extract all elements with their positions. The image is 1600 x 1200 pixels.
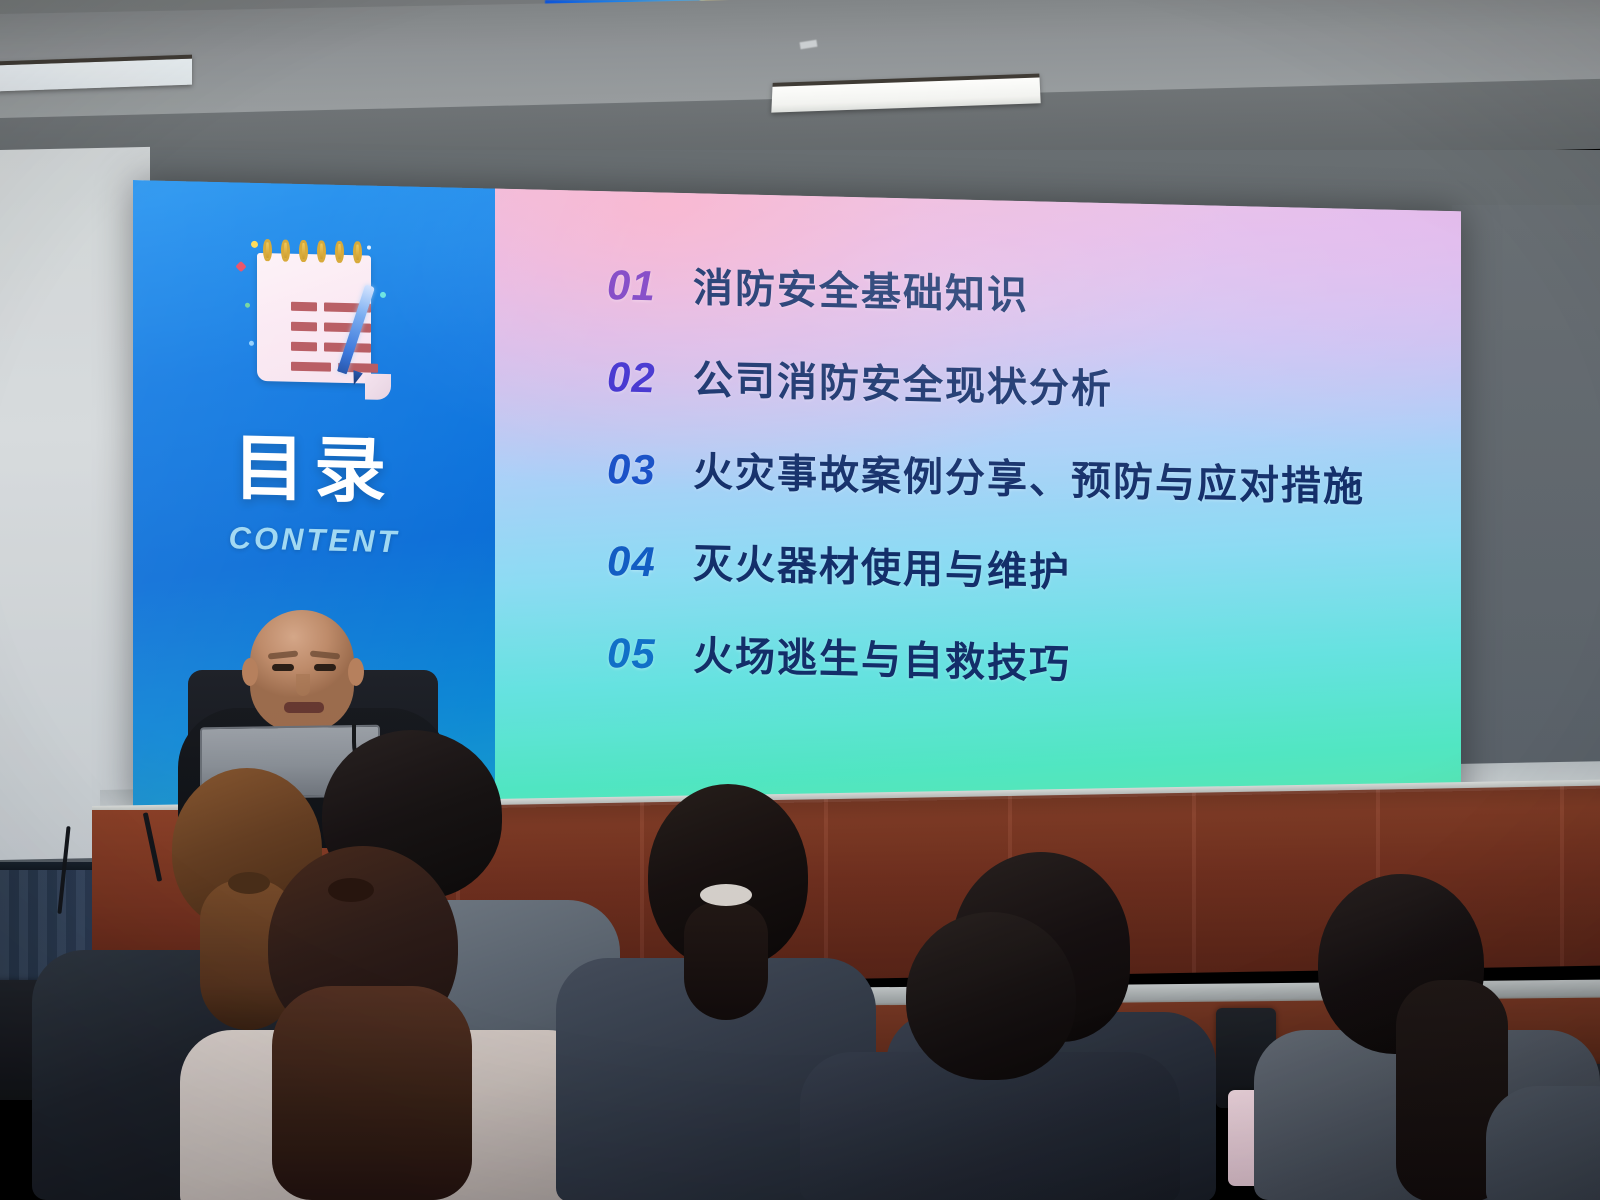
notepad-with-pen-icon xyxy=(239,236,389,402)
presenter-head xyxy=(250,610,354,732)
confetti-dot-blue xyxy=(249,341,254,346)
notepad-ring xyxy=(281,239,290,261)
presenter-eye xyxy=(314,664,336,671)
confetti-dot-yellow xyxy=(251,241,258,248)
notepad-ring xyxy=(353,241,362,263)
presenter-eye xyxy=(272,664,294,671)
presenter-nose xyxy=(296,674,310,696)
toc-number: 05 xyxy=(607,629,693,679)
presenter-ear xyxy=(348,658,364,686)
slide-title-cn: 目录 xyxy=(233,432,395,508)
notepad-ring xyxy=(299,240,308,262)
toc-item: 05 火场逃生与自救技巧 xyxy=(607,621,1421,732)
hair-tie xyxy=(700,884,752,906)
hair-tie xyxy=(228,872,270,894)
toc-label: 灭火器材使用与维护 xyxy=(693,531,1071,598)
toc-number: 03 xyxy=(607,445,693,495)
left-wall-panel xyxy=(0,147,150,860)
hair-tie xyxy=(328,878,374,902)
notepad-ring xyxy=(335,241,344,263)
toc-label: 消防安全基础知识 xyxy=(693,255,1029,321)
confetti-dot-cyan xyxy=(380,292,386,298)
table-of-contents: 01 消防安全基础知识 02 公司消防安全现状分析 03 火灾事故案例分享、预防… xyxy=(607,253,1421,732)
notepad-ring xyxy=(263,239,272,261)
confetti-dot-white xyxy=(367,246,371,250)
presenter-ear xyxy=(242,658,258,686)
slide-title-en: CONTENT xyxy=(229,520,400,560)
toc-number: 01 xyxy=(607,261,693,311)
confetti-dot-green xyxy=(245,303,250,308)
toc-number: 02 xyxy=(607,353,693,403)
attendee-ponytail xyxy=(684,902,768,1020)
slide-right-panel: 01 消防安全基础知识 02 公司消防安全现状分析 03 火灾事故案例分享、预防… xyxy=(495,189,1461,844)
attendee-ponytail xyxy=(272,986,472,1200)
notepad-ring xyxy=(317,240,326,262)
toc-label: 公司消防安全现状分析 xyxy=(693,347,1113,415)
toc-label: 火场逃生与自救技巧 xyxy=(693,623,1071,690)
toc-number: 04 xyxy=(607,537,693,587)
attendee-hair xyxy=(906,912,1076,1080)
attendee-torso xyxy=(1486,1086,1600,1200)
right-wall-panel xyxy=(1452,205,1600,845)
presenter-mouth xyxy=(284,702,324,713)
conference-room-scene: 目录 CONTENT 01 消防安全基础知识 02 公司消防安全现状分析 03 xyxy=(0,0,1600,1200)
confetti-dot-red xyxy=(235,261,246,272)
